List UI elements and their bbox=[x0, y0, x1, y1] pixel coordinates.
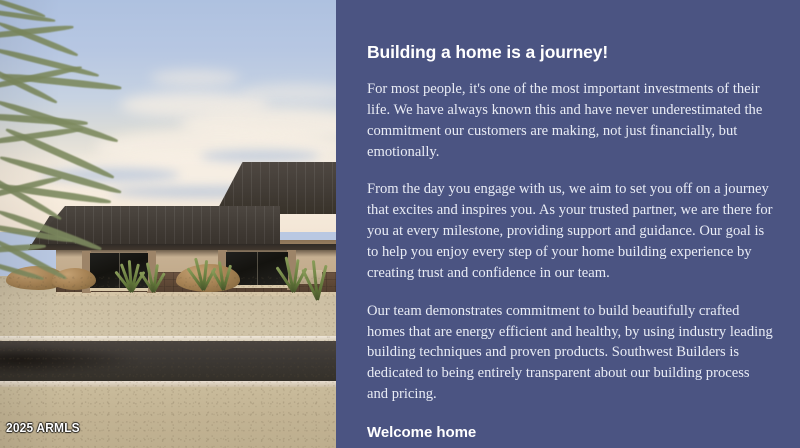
mls-watermark: 2025 ARMLS bbox=[6, 420, 80, 435]
closing-line: Welcome home bbox=[367, 424, 774, 441]
paragraph-2: From the day you engage with us, we aim … bbox=[367, 179, 774, 283]
listing-detail-slide: 2025 ARMLS Building a home is a journey!… bbox=[0, 0, 800, 448]
page-title: Building a home is a journey! bbox=[367, 42, 774, 63]
paragraph-1: For most people, it's one of the most im… bbox=[367, 79, 774, 162]
paragraph-3: Our team demonstrates commitment to buil… bbox=[367, 301, 774, 405]
desert-tree bbox=[0, 0, 156, 280]
property-photo[interactable]: 2025 ARMLS bbox=[0, 0, 336, 448]
body-copy: For most people, it's one of the most im… bbox=[367, 79, 774, 405]
marketing-copy-panel: Building a home is a journey! For most p… bbox=[336, 0, 800, 448]
window-mullion bbox=[257, 252, 258, 285]
